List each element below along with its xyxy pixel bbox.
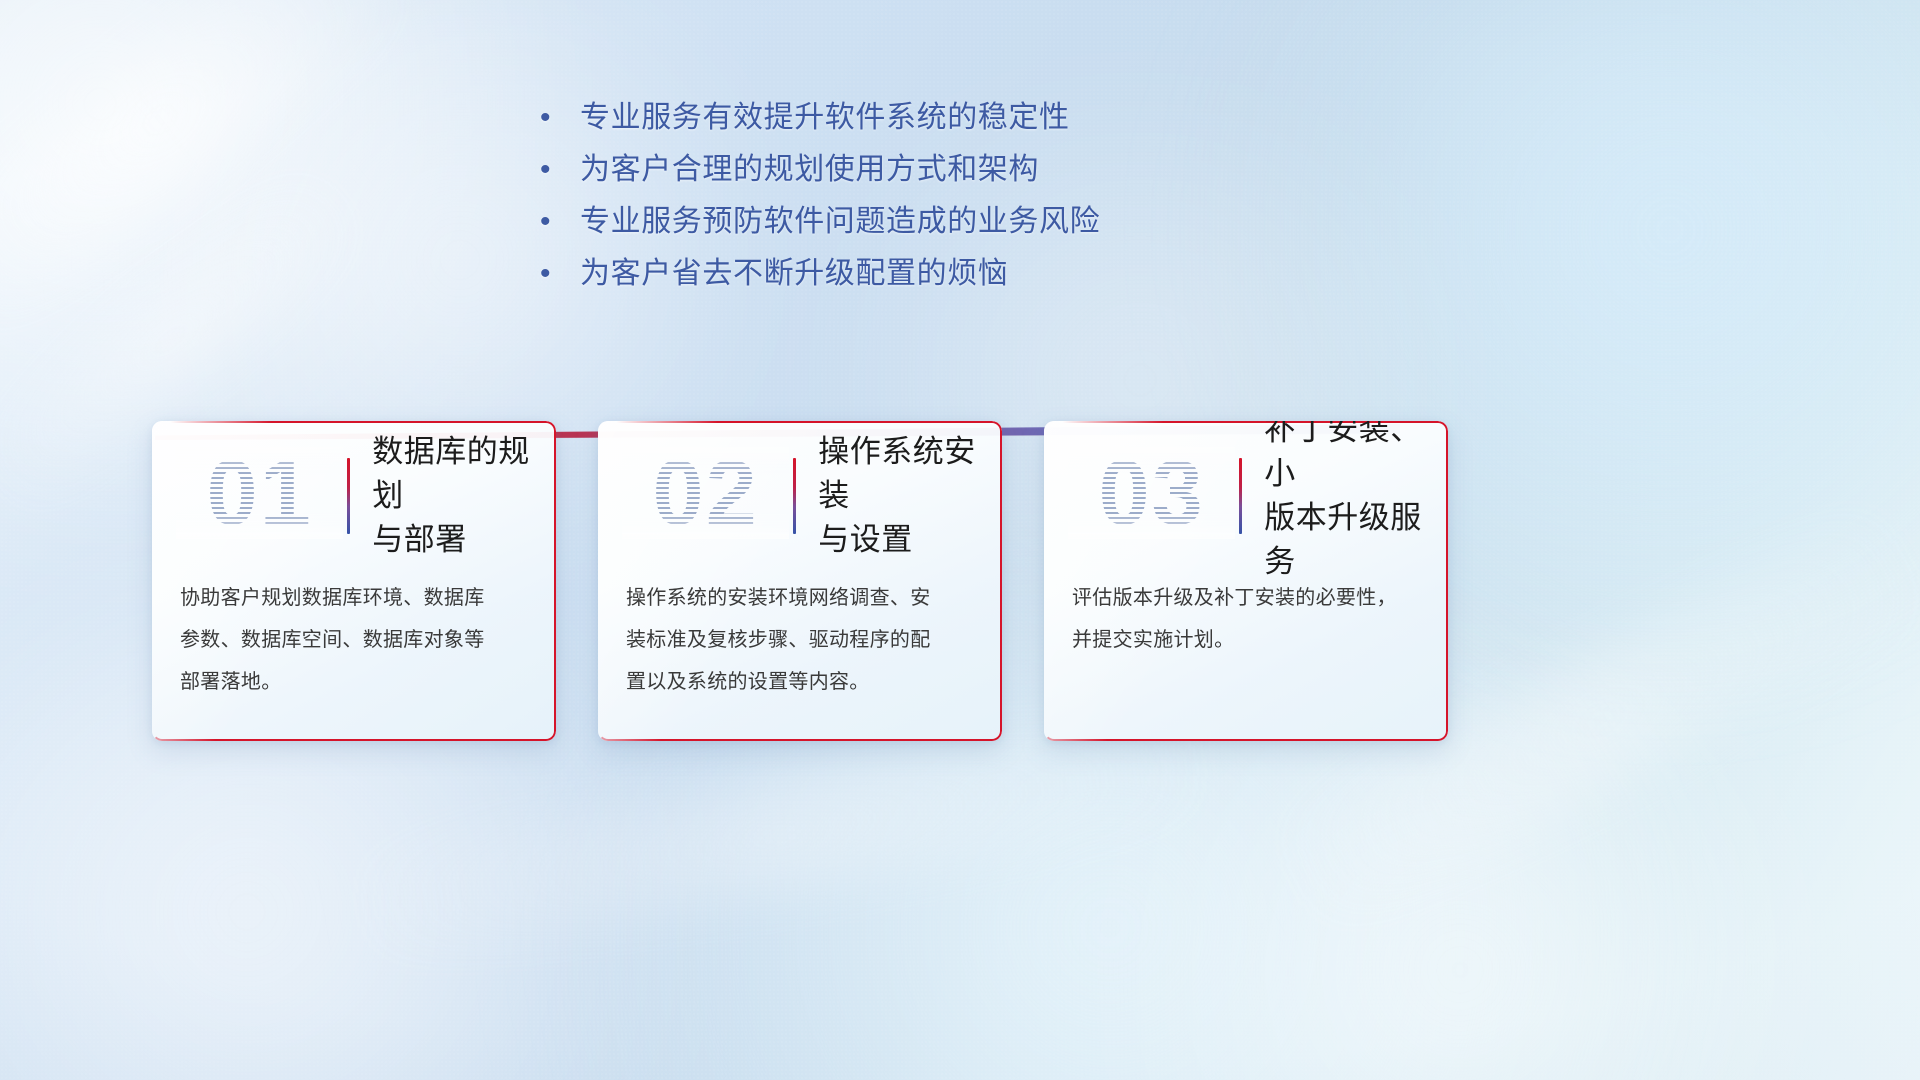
bullet-text: 为客户合理的规划使用方式和架构 [580,144,1039,196]
bullet-text: 为客户省去不断升级配置的烦恼 [580,248,1008,300]
card-accent-bar [793,458,796,534]
list-item: • 为客户省去不断升级配置的烦恼 [540,248,1440,300]
card-number: 01 [176,447,343,539]
card-description: 操作系统的安装环境网络调查、安 装标准及复核步骤、驱动程序的配 置以及系统的设置… [598,577,1002,703]
card-number: 03 [1068,447,1235,539]
card-header: 01 数据库的规划 与部署 [152,421,556,571]
bullet-dot-icon: • [540,144,580,196]
card-description: 评估版本升级及补丁安装的必要性， 并提交实施计划。 [1044,577,1448,661]
card-accent-bar [347,458,350,534]
card-title: 操作系统安装 与设置 [818,430,1002,562]
card-number: 02 [622,447,789,539]
service-card[interactable]: 03 补丁安装、小 版本升级服务 评估版本升级及补丁安装的必要性， 并提交实施计… [1044,421,1448,741]
card-header: 03 补丁安装、小 版本升级服务 [1044,421,1448,571]
bullet-text: 专业服务有效提升软件系统的稳定性 [580,92,1070,144]
card-description: 协助客户规划数据库环境、数据库 参数、数据库空间、数据库对象等 部署落地。 [152,577,556,703]
service-card[interactable]: 01 数据库的规划 与部署 协助客户规划数据库环境、数据库 参数、数据库空间、数… [152,421,556,741]
bullet-text: 专业服务预防软件问题造成的业务风险 [580,196,1100,248]
card-title: 数据库的规划 与部署 [372,430,556,562]
service-card-row: 01 数据库的规划 与部署 协助客户规划数据库环境、数据库 参数、数据库空间、数… [152,421,1448,741]
bullet-dot-icon: • [540,92,580,144]
card-accent-bar [1239,458,1242,534]
card-header: 02 操作系统安装 与设置 [598,421,1002,571]
bullet-dot-icon: • [540,248,580,300]
list-item: • 专业服务有效提升软件系统的稳定性 [540,92,1440,144]
bullet-dot-icon: • [540,196,580,248]
list-item: • 为客户合理的规划使用方式和架构 [540,144,1440,196]
list-item: • 专业服务预防软件问题造成的业务风险 [540,196,1440,248]
benefits-bullet-list: • 专业服务有效提升软件系统的稳定性 • 为客户合理的规划使用方式和架构 • 专… [540,92,1440,300]
service-card[interactable]: 02 操作系统安装 与设置 操作系统的安装环境网络调查、安 装标准及复核步骤、驱… [598,421,1002,741]
card-title: 补丁安装、小 版本升级服务 [1264,421,1448,584]
